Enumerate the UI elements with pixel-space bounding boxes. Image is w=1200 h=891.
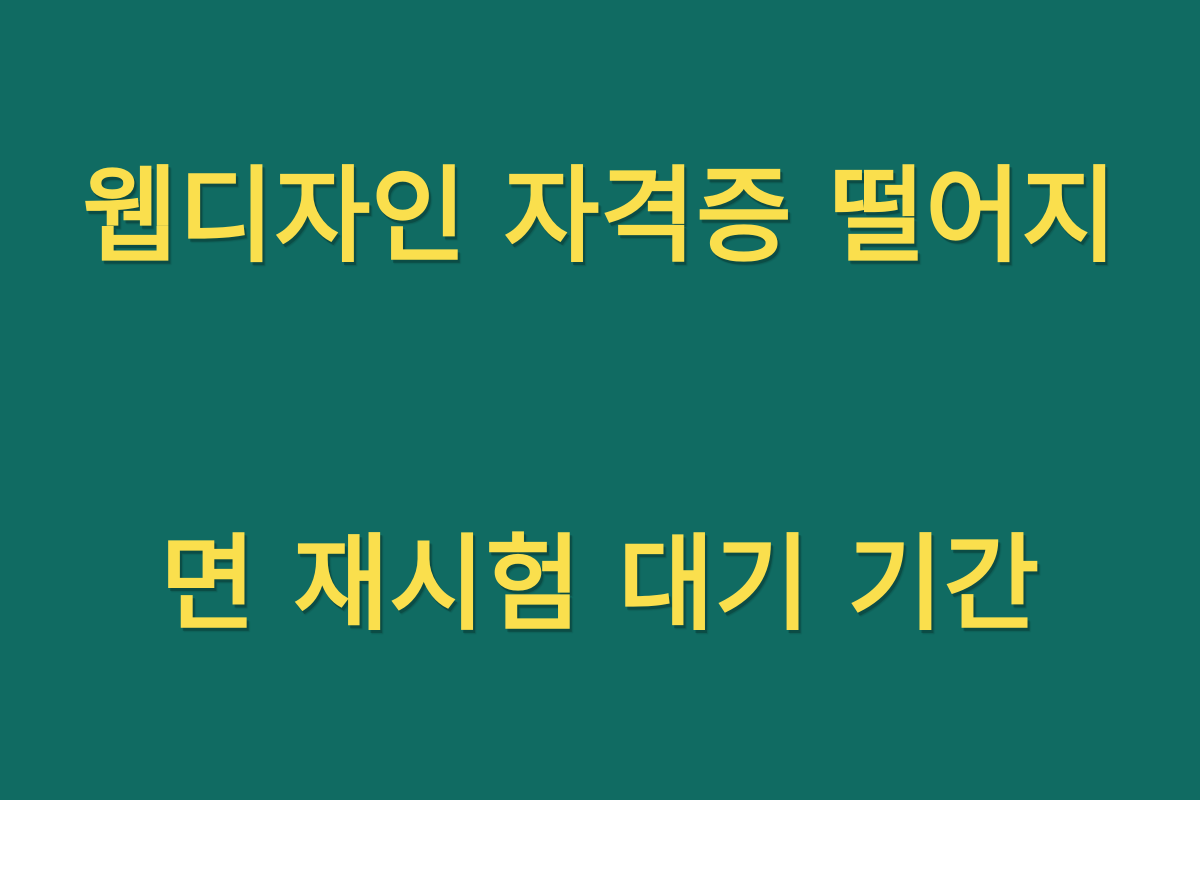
headline-text: 웹디자인 자격증 떨어지 면 재시험 대기 기간 (75, 0, 1125, 891)
banner-canvas: 웹디자인 자격증 떨어지 면 재시험 대기 기간 (0, 0, 1200, 800)
headline-line-1: 웹디자인 자격증 떨어지 (75, 155, 1125, 278)
headline-line-2: 면 재시험 대기 기간 (75, 523, 1125, 646)
